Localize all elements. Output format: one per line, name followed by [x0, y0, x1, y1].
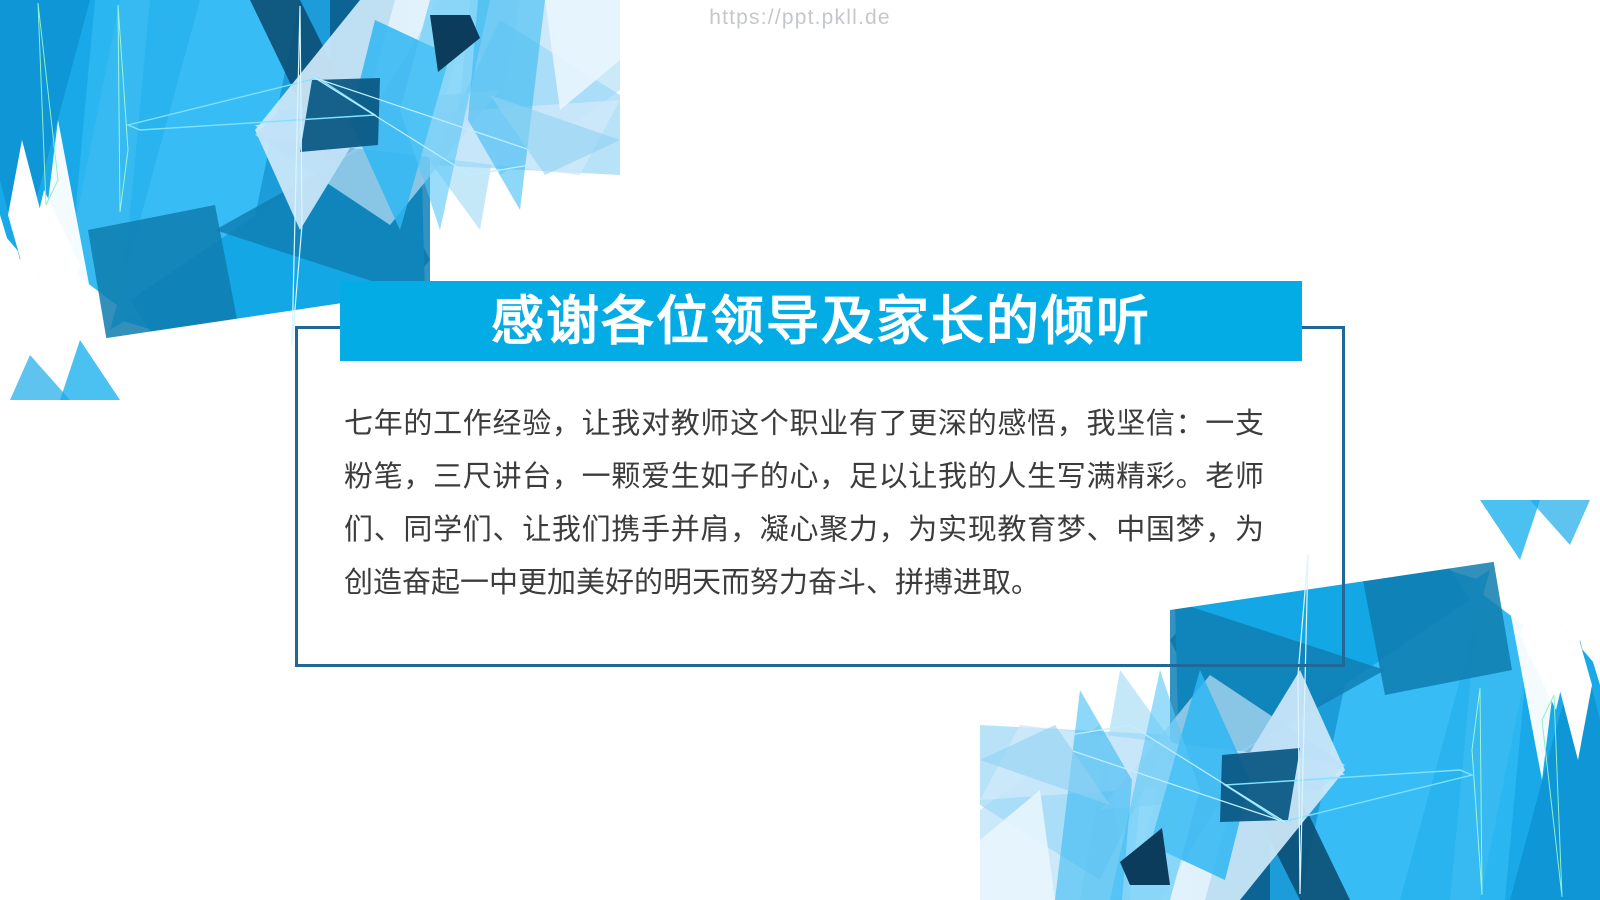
page-title: 感谢各位领导及家长的倾听 [491, 295, 1151, 348]
slide-canvas: https://ppt.pkll.de 感谢各位领导及家长的倾听 七年的工作经验… [0, 0, 1600, 900]
body-paragraph: 七年的工作经验，让我对教师这个职业有了更深的感悟，我坚信：一支粉笔，三尺讲台，一… [344, 398, 1264, 610]
title-banner: 感谢各位领导及家长的倾听 [340, 281, 1302, 361]
watermark-url: https://ppt.pkll.de [0, 6, 1600, 30]
